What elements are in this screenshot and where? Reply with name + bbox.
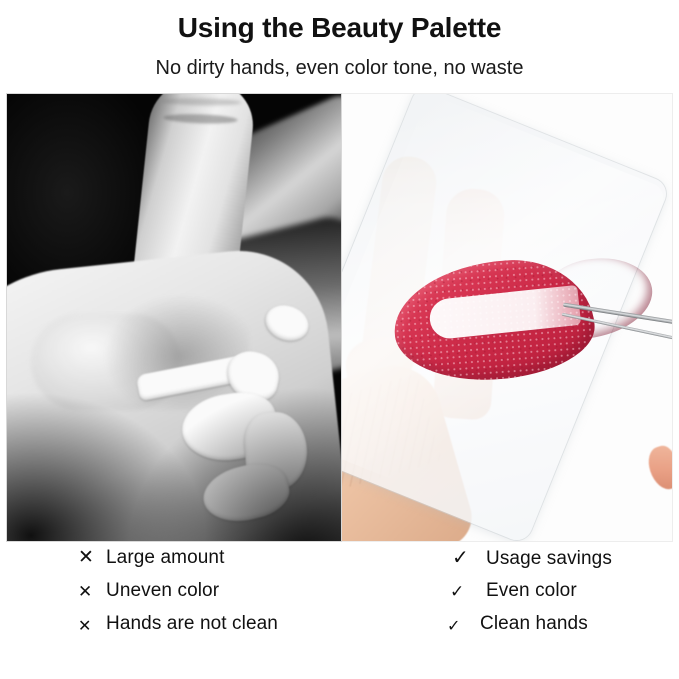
photo-vignette <box>121 381 342 542</box>
list-item: ✕ Uneven color <box>78 581 380 614</box>
product-swatch <box>390 246 638 392</box>
cross-icon: ✕ <box>78 548 106 567</box>
check-icon: ✓ <box>450 583 478 600</box>
header: Using the Beauty Palette No dirty hands,… <box>0 0 679 78</box>
list-item-label: Even color <box>480 581 577 600</box>
list-item: ✓ Even color <box>452 581 679 614</box>
list-item-label: Usage savings <box>480 549 612 568</box>
infographic-page: Using the Beauty Palette No dirty hands,… <box>0 0 679 679</box>
list-item-label: Large amount <box>106 548 224 567</box>
palette-application-photo <box>342 93 673 542</box>
page-title: Using the Beauty Palette <box>0 0 679 42</box>
list-item: ✕ Large amount <box>78 548 380 581</box>
list-item-label: Uneven color <box>106 581 219 600</box>
list-item: ✕ Hands are not clean <box>78 614 380 647</box>
benefits-list: ✓ Usage savings ✓ Even color ✓ Clean han… <box>380 548 679 673</box>
check-icon: ✓ <box>452 548 480 568</box>
cross-icon: ✕ <box>78 583 106 600</box>
list-item: ✓ Usage savings <box>452 548 679 581</box>
check-icon: ✓ <box>447 619 475 635</box>
cross-icon: ✕ <box>78 619 106 635</box>
list-item: ✓ Clean hands <box>452 614 679 647</box>
hand-application-photo <box>6 93 342 542</box>
comparison-lists: ✕ Large amount ✕ Uneven color ✕ Hands ar… <box>0 548 679 673</box>
drawbacks-list: ✕ Large amount ✕ Uneven color ✕ Hands ar… <box>0 548 380 673</box>
page-subtitle: No dirty hands, even color tone, no wast… <box>0 42 679 78</box>
photo-comparison-strip <box>6 93 673 542</box>
list-item-label: Clean hands <box>480 614 588 633</box>
list-item-label: Hands are not clean <box>106 614 278 633</box>
